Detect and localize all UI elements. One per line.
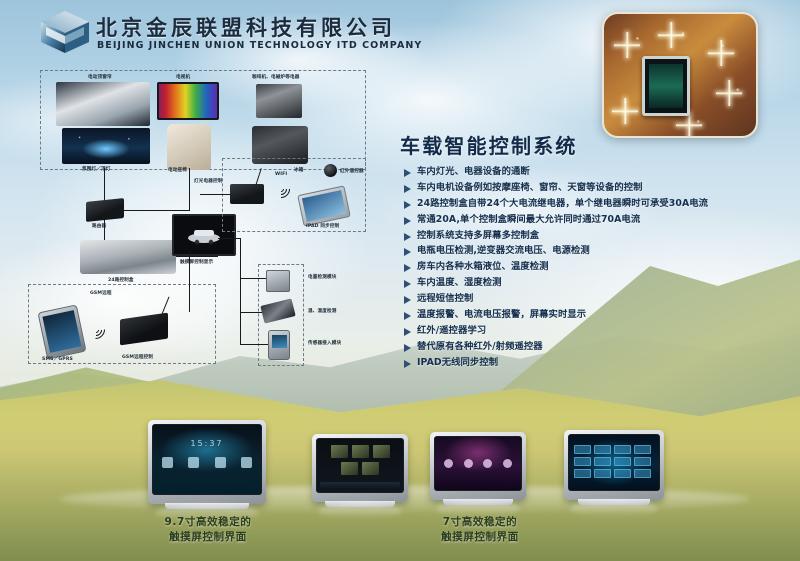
wire <box>240 344 268 345</box>
label-power-detect: 电量检测模块 <box>308 274 336 280</box>
sparkle-icon <box>708 40 734 66</box>
triangle-right-icon <box>404 280 417 288</box>
label-ipad: IPAD 同步控制 <box>306 223 339 229</box>
sparkle-icon <box>658 22 684 48</box>
feature-text: 替代原有各种红外/射频遥控器 <box>417 341 543 354</box>
device-tv <box>157 82 219 120</box>
device-power-detect <box>266 270 290 292</box>
label-seat: 电动座椅 <box>168 167 187 173</box>
tablet-reflection <box>570 501 658 517</box>
feature-list: 车内灯光、电器设备的通断 车内电机设备例如按摩座椅、窗帘、天窗等设备的控制 24… <box>404 166 794 373</box>
wire <box>240 312 262 313</box>
feature-text: IPAD无线同步控制 <box>417 357 498 370</box>
feature-text: 车内灯光、电器设备的通断 <box>417 166 530 179</box>
tablet-reflection <box>318 503 402 519</box>
triangle-right-icon <box>404 169 417 177</box>
feature-item: 24路控制盒自带24个大电流继电器，单个继电器瞬时可承受30A电流 <box>404 198 794 211</box>
media-grid-ui <box>317 439 403 492</box>
sparkle-icon <box>614 32 640 58</box>
company-name-en: BEIJING JINCHEN UNION TECHNOLOGY ITD COM… <box>97 40 422 51</box>
feature-text: 24路控制盒自带24个大电流继电器，单个继电器瞬时可承受30A电流 <box>417 198 708 211</box>
feature-item: 温度报警、电流电压报警，屏幕实时显示 <box>404 309 794 322</box>
label-ir-remote: 红外遥控器 <box>340 168 364 174</box>
label-tv: 电视机 <box>176 74 190 80</box>
label-gsm-module: GSM远程控制 <box>122 354 153 360</box>
caption-left-line2: 触摸屏控制界面 <box>128 530 288 545</box>
device-24way-control-box <box>80 240 176 274</box>
feature-item: 远程短信控制 <box>404 293 794 306</box>
feature-text: 温度报警、电流电压报警，屏幕实时显示 <box>417 309 586 322</box>
device-ceiling-curtain <box>56 82 150 126</box>
wire <box>240 238 241 344</box>
feature-item: 车内温度、湿度检测 <box>404 277 794 290</box>
thumbnail-grid <box>324 445 396 475</box>
device-sensor-input <box>268 330 290 360</box>
label-temp-humid: 温、湿度检测 <box>308 308 336 314</box>
tablet-9-7-inch[interactable]: 15:37 <box>148 420 266 504</box>
monitor-panel-ui <box>569 435 659 490</box>
mounted-tablet-screen <box>642 56 690 116</box>
caption-right-line2: 触摸屏控制界面 <box>400 530 560 545</box>
label-ceiling-light: 电动顶窗帘 <box>88 74 112 80</box>
label-ambient: 氛围灯／顶灯 <box>82 166 110 172</box>
feature-text: 电瓶电压检测,逆变器交流电压、电源检测 <box>417 245 590 258</box>
label-coffee: 咖啡机、电磁炉等电器 <box>252 74 299 80</box>
feature-item: 控制系统支持多屏幕多控制盒 <box>404 230 794 243</box>
tablet-media-grid[interactable] <box>312 434 408 502</box>
tablet-screen[interactable]: 15:37 <box>152 424 262 495</box>
wire <box>218 238 240 239</box>
sparkle-icon <box>612 98 638 124</box>
triangle-right-icon <box>404 185 417 193</box>
label-touch-display: 触摸屏控制显示 <box>180 259 213 265</box>
control-icon-row <box>444 459 513 468</box>
status-cell-grid <box>574 445 653 478</box>
label-control-box: 24路控制盒 <box>108 277 134 283</box>
label-sensor-input: 传感器接入模块 <box>308 340 341 346</box>
label-gsm-remote: GSM远程 <box>90 290 112 296</box>
wire <box>200 194 230 195</box>
tablet-screen[interactable] <box>568 434 660 491</box>
feature-item: 车内电机设备例如按摩座椅、窗帘、天窗等设备的控制 <box>404 182 794 195</box>
feature-text: 控制系统支持多屏幕多控制盒 <box>417 230 539 243</box>
triangle-right-icon <box>404 217 417 225</box>
label-wifi: WIFI <box>275 172 287 177</box>
round-controls-ui <box>435 437 521 490</box>
tablet-screen[interactable] <box>316 438 404 493</box>
wire <box>104 168 105 200</box>
cube-logo-icon <box>40 10 90 54</box>
device-wifi-router <box>230 184 264 204</box>
feature-text: 车内电机设备例如按摩座椅、窗帘、天窗等设备的控制 <box>417 182 643 195</box>
label-sms-gprs: SMS／GPRS <box>42 356 73 362</box>
tablet-control-round[interactable] <box>430 432 526 500</box>
feature-item: 车内灯光、电器设备的通断 <box>404 166 794 179</box>
device-coffee-machine <box>256 84 302 118</box>
home-screen-ui: 15:37 <box>153 425 261 494</box>
feature-item: 替代原有各种红外/射频遥控器 <box>404 341 794 354</box>
wire <box>104 220 105 242</box>
feature-text: 红外/遥控器学习 <box>417 325 486 338</box>
wire <box>189 168 190 210</box>
triangle-right-icon <box>404 264 417 272</box>
triangle-right-icon <box>404 360 417 368</box>
triangle-right-icon <box>404 328 417 336</box>
system-title: 车载智能控制系统 <box>400 130 578 159</box>
feature-item: 电瓶电压检测,逆变器交流电压、电源检测 <box>404 245 794 258</box>
feature-text: 房车内各种水箱液位、温度检测 <box>417 261 549 274</box>
tablet-monitor-panel[interactable] <box>564 430 664 500</box>
device-ambient-light <box>62 128 150 164</box>
ir-remote-icon <box>324 164 337 177</box>
caption-left-line1: 9.7寸高效稳定的 <box>128 515 288 530</box>
feature-text: 远程短信控制 <box>417 293 473 306</box>
clock-display: 15:37 <box>153 439 261 448</box>
feature-text: 车内温度、湿度检测 <box>417 277 502 290</box>
feature-text: 常通20A,单个控制盒瞬间最大允许同时通过70A电流 <box>417 214 640 227</box>
company-name-cn: 北京金辰联盟科技有限公司 <box>96 12 396 42</box>
device-router <box>86 198 124 222</box>
caption-right: 7寸高效稳定的 触摸屏控制界面 <box>400 515 560 545</box>
wire <box>240 278 266 279</box>
triangle-right-icon <box>404 233 417 241</box>
wifi-signal-icon <box>86 320 108 342</box>
wifi-signal-icon <box>272 180 292 200</box>
triangle-right-icon <box>404 296 417 304</box>
feature-item: 房车内各种水箱液位、温度检测 <box>404 261 794 274</box>
triangle-right-icon <box>404 201 417 209</box>
vehicle-interior-photo <box>602 12 758 138</box>
wire <box>189 252 190 312</box>
caption-left: 9.7寸高效稳定的 触摸屏控制界面 <box>128 515 288 545</box>
system-diagram: 电动顶窗帘 氛围灯／顶灯 电视机 电动座椅 咖啡机、电磁炉等电器 冰箱 灯光电器… <box>24 68 392 378</box>
wire <box>176 256 218 257</box>
feature-item: IPAD无线同步控制 <box>404 357 794 370</box>
caption-right-line1: 7寸高效稳定的 <box>400 515 560 530</box>
feature-item: 常通20A,单个控制盒瞬间最大允许同时通过70A电流 <box>404 214 794 227</box>
triangle-right-icon <box>404 344 417 352</box>
label-light-control: 灯光电器控制 <box>194 178 222 184</box>
app-icon-row <box>162 457 253 468</box>
taskbar <box>320 482 399 489</box>
triangle-right-icon <box>404 248 417 256</box>
device-massage-seat <box>167 124 211 170</box>
feature-item: 红外/遥控器学习 <box>404 325 794 338</box>
triangle-right-icon <box>404 312 417 320</box>
poster-canvas: 北京金辰联盟科技有限公司 BEIJING JINCHEN UNION TECHN… <box>0 0 800 561</box>
sparkle-icon <box>716 80 742 106</box>
tablet-screen[interactable] <box>434 436 522 491</box>
